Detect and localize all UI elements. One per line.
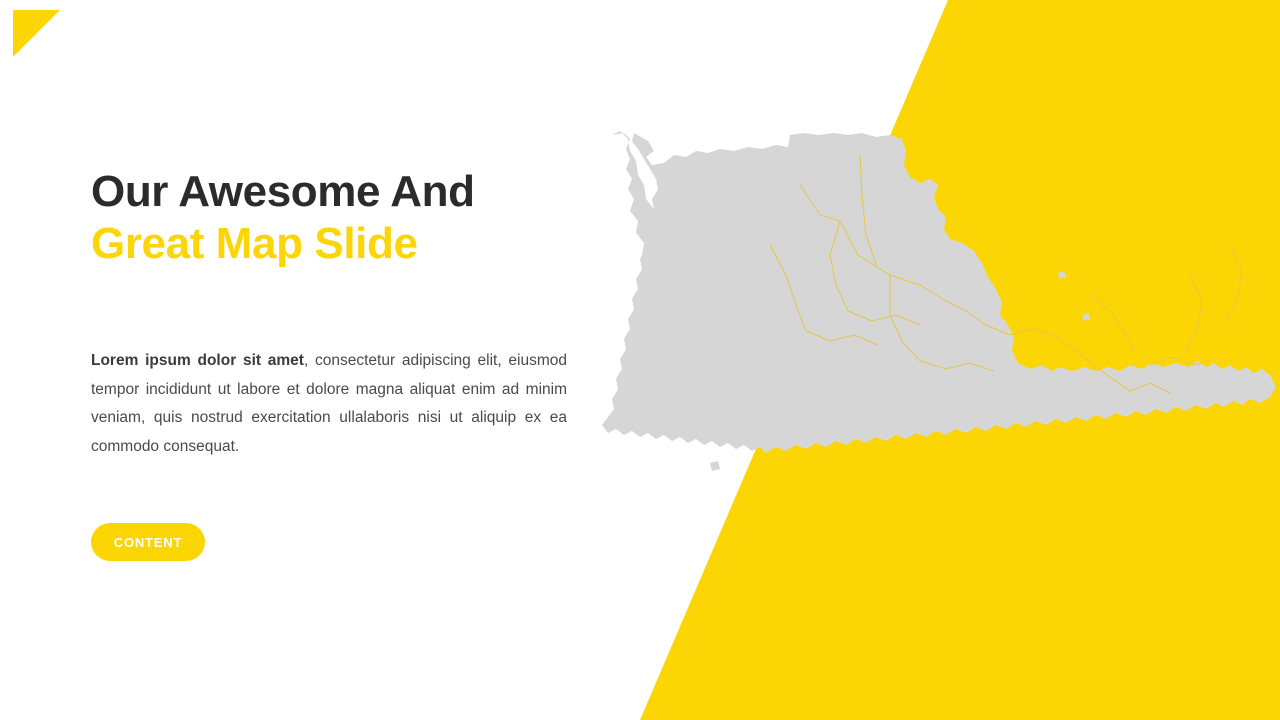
baja-island-3 bbox=[708, 261, 718, 271]
offshore-island-gulf-2 bbox=[1082, 313, 1090, 321]
offshore-island-pacific bbox=[710, 461, 720, 471]
body-paragraph-lead: Lorem ipsum dolor sit amet bbox=[91, 352, 304, 369]
content-column: Our Awesome And Great Map Slide Lorem ip… bbox=[91, 0, 565, 720]
map-landmass bbox=[602, 131, 1276, 453]
slide-canvas: Our Awesome And Great Map Slide Lorem ip… bbox=[0, 0, 1280, 720]
corner-triangle-decoration bbox=[0, 0, 70, 70]
baja-island-4 bbox=[716, 311, 726, 323]
page-title: Our Awesome And Great Map Slide bbox=[91, 166, 611, 270]
content-button[interactable]: CONTENT bbox=[91, 523, 205, 561]
baja-island-2 bbox=[686, 241, 698, 251]
page-title-line-1: Our Awesome And bbox=[91, 167, 475, 216]
map-offshore-islands bbox=[710, 271, 1090, 471]
body-paragraph: Lorem ipsum dolor sit amet, consectetur … bbox=[91, 347, 567, 461]
mainland-mexico bbox=[602, 133, 1276, 453]
yellow-diagonal-shape bbox=[640, 0, 1280, 720]
baja-island-1 bbox=[660, 231, 676, 241]
page-title-line-2: Great Map Slide bbox=[91, 218, 611, 270]
baja-island-5 bbox=[724, 331, 734, 341]
offshore-island-gulf-1 bbox=[1058, 271, 1066, 279]
map-state-borders bbox=[770, 155, 1242, 393]
corner-triangle-shape bbox=[13, 10, 60, 57]
mexico-map bbox=[590, 125, 1280, 595]
baja-california-peninsula bbox=[612, 131, 736, 377]
